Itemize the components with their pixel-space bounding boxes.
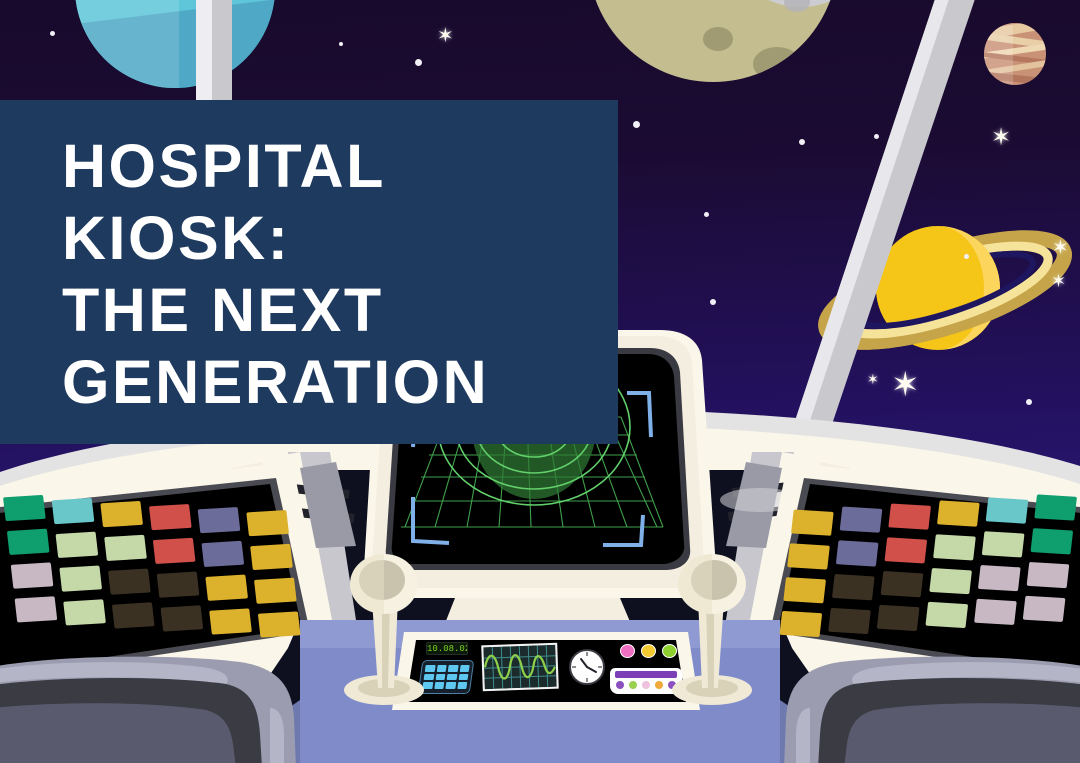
- indicator-pink[interactable]: [620, 644, 635, 658]
- waveform-oscilloscope[interactable]: [481, 643, 559, 692]
- console-button[interactable]: [246, 510, 289, 536]
- console-button[interactable]: [112, 602, 155, 628]
- tray-dot[interactable]: [642, 681, 650, 689]
- console-button[interactable]: [933, 534, 976, 560]
- title-card: HOSPITAL KIOSK: THE NEXT GENERATION: [0, 100, 618, 444]
- console-button[interactable]: [1027, 562, 1070, 588]
- analog-clock: [568, 648, 606, 686]
- console-button[interactable]: [982, 531, 1025, 557]
- console-button[interactable]: [100, 501, 143, 527]
- console-button[interactable]: [157, 572, 200, 598]
- console-button[interactable]: [11, 562, 54, 588]
- console-button[interactable]: [1030, 528, 1073, 554]
- console-button[interactable]: [787, 543, 830, 569]
- console-button[interactable]: [986, 497, 1029, 523]
- console-button[interactable]: [888, 503, 931, 529]
- console-button[interactable]: [59, 565, 102, 591]
- console-button[interactable]: [108, 568, 151, 594]
- window-strut: [782, 0, 978, 460]
- left-pilot-chair[interactable]: [0, 628, 360, 763]
- console-button[interactable]: [978, 565, 1021, 591]
- console-button[interactable]: [836, 540, 879, 566]
- console-button[interactable]: [52, 498, 95, 524]
- console-button[interactable]: [201, 541, 244, 567]
- poster-canvas: ✶✶✶✶✶✶✶: [0, 0, 1080, 763]
- console-button[interactable]: [205, 575, 248, 601]
- console-button[interactable]: [925, 602, 968, 628]
- console-button[interactable]: [56, 532, 99, 558]
- tray-dot[interactable]: [616, 681, 624, 689]
- console-button[interactable]: [254, 578, 297, 604]
- console-button[interactable]: [7, 529, 50, 555]
- console-button[interactable]: [3, 495, 46, 521]
- console-button[interactable]: [783, 577, 826, 603]
- console-button[interactable]: [929, 568, 972, 594]
- console-button[interactable]: [884, 537, 927, 563]
- console-button[interactable]: [63, 599, 106, 625]
- console-button[interactable]: [198, 507, 241, 533]
- central-control-panel[interactable]: 10.08.02: [408, 634, 683, 706]
- console-button[interactable]: [832, 574, 875, 600]
- tray-dot[interactable]: [629, 681, 637, 689]
- console-button[interactable]: [937, 500, 980, 526]
- console-button[interactable]: [15, 596, 58, 622]
- console-button[interactable]: [791, 510, 834, 536]
- right-pilot-chair[interactable]: [720, 628, 1080, 763]
- console-button[interactable]: [153, 538, 196, 564]
- left-window-strut: [196, 0, 232, 100]
- indicator-yellow[interactable]: [641, 644, 656, 658]
- console-button[interactable]: [974, 599, 1017, 625]
- console-button[interactable]: [104, 535, 147, 561]
- console-button[interactable]: [1023, 596, 1066, 622]
- console-button[interactable]: [1034, 494, 1077, 520]
- console-button[interactable]: [840, 506, 883, 532]
- console-button[interactable]: [250, 544, 293, 570]
- page-title: HOSPITAL KIOSK: THE NEXT GENERATION: [62, 130, 602, 418]
- console-button[interactable]: [881, 571, 924, 597]
- console-button[interactable]: [149, 504, 192, 530]
